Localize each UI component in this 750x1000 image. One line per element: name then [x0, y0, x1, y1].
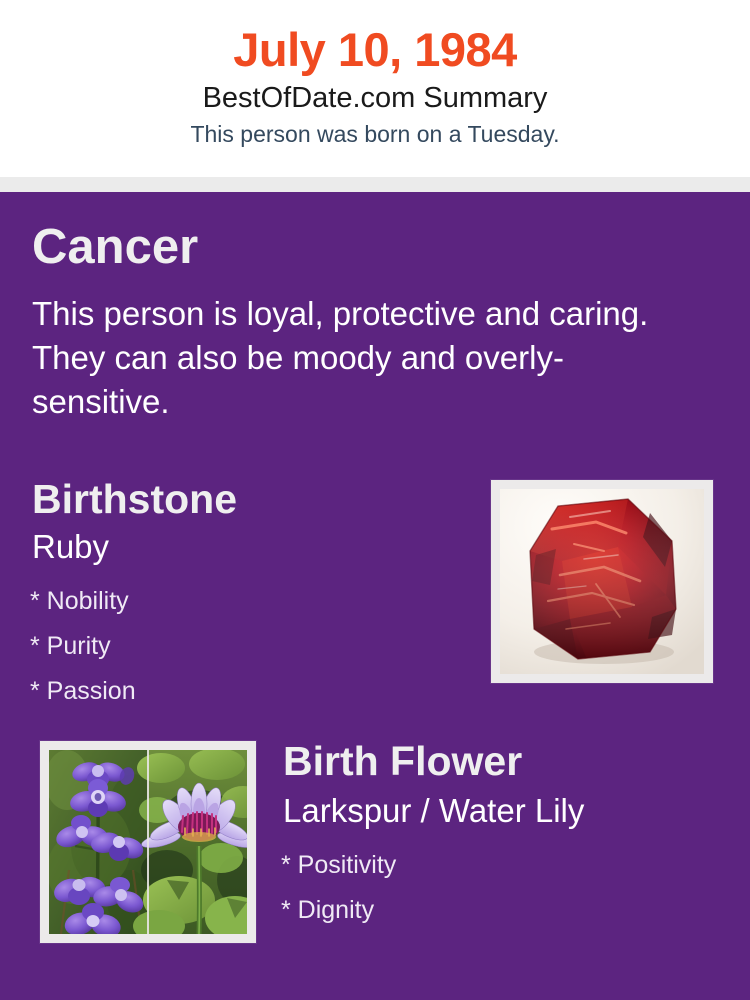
header: July 10, 1984 BestOfDate.com Summary Thi…	[0, 0, 750, 177]
list-item: * Positivity	[281, 843, 396, 888]
page-title: July 10, 1984	[0, 26, 750, 75]
waterlily-photo	[133, 750, 247, 934]
birthflower-trait-list: * Positivity * Dignity	[281, 843, 396, 933]
list-item: * Purity	[30, 624, 136, 669]
list-item: * Nobility	[30, 579, 136, 624]
birthflower-image-frame	[40, 741, 256, 943]
ruby-gemstone-image	[500, 489, 704, 674]
birthflower-heading: Birth Flower	[283, 741, 522, 782]
zodiac-description: This person is loyal, protective and car…	[32, 292, 652, 424]
larkspur-photo	[49, 750, 157, 934]
birthstone-trait-list: * Nobility * Purity * Passion	[30, 579, 136, 714]
born-day-text: This person was born on a Tuesday.	[0, 122, 750, 147]
list-item: * Dignity	[281, 888, 396, 933]
birthstone-image-frame	[491, 480, 713, 683]
list-item: * Passion	[30, 669, 136, 714]
larkspur-waterlily-image	[49, 750, 247, 934]
zodiac-sign-name: Cancer	[32, 223, 198, 272]
birthstone-name: Ruby	[32, 530, 109, 563]
site-subtitle: BestOfDate.com Summary	[0, 83, 750, 115]
birthflower-name: Larkspur / Water Lily	[283, 794, 584, 827]
header-divider	[0, 177, 750, 192]
summary-card: July 10, 1984 BestOfDate.com Summary Thi…	[0, 0, 750, 1000]
birthstone-heading: Birthstone	[32, 479, 237, 520]
